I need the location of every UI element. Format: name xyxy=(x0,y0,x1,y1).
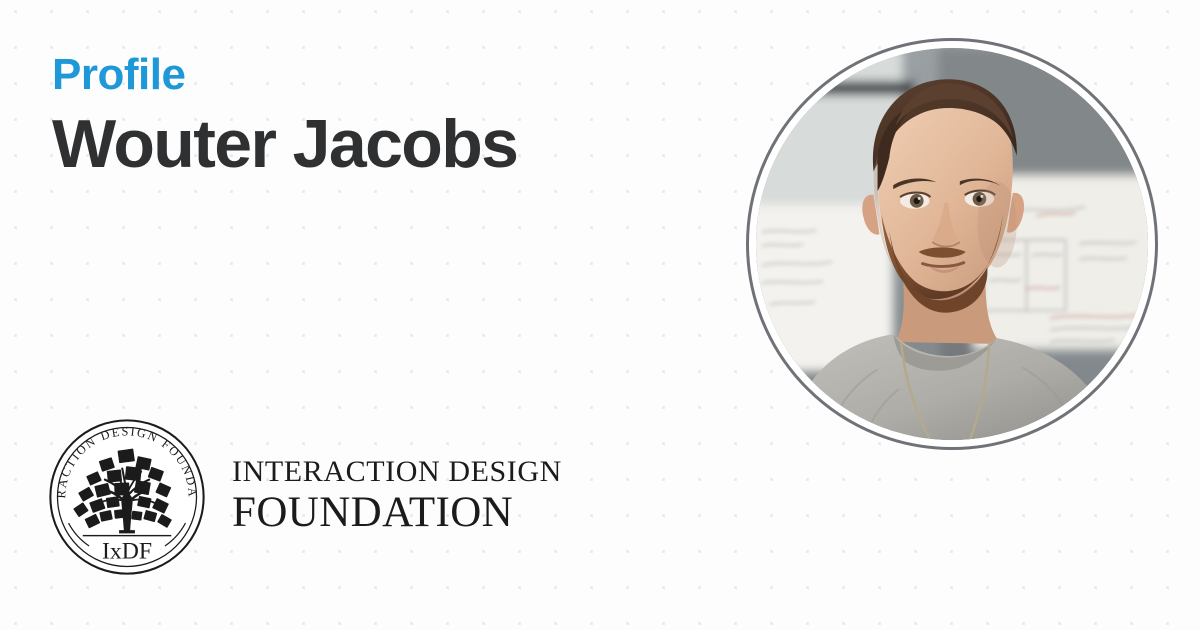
ixdf-logo-lockup[interactable]: INTERACTION DESIGN FOUNDATION xyxy=(48,418,562,576)
page-eyebrow: Profile xyxy=(52,52,712,98)
ixdf-monogram: IxDF xyxy=(102,539,152,565)
wordmark-line-1: INTERACTION DESIGN xyxy=(232,457,562,487)
page-title: Wouter Jacobs xyxy=(52,108,712,180)
ixdf-seal-icon: INTERACTION DESIGN FOUNDATION xyxy=(48,418,206,576)
ixdf-wordmark: INTERACTION DESIGN FOUNDATION xyxy=(232,457,562,538)
avatar-clip xyxy=(756,48,1148,440)
wordmark-line-2: FOUNDATION xyxy=(232,491,562,534)
profile-text-block: Profile Wouter Jacobs xyxy=(52,52,712,180)
profile-photo-image xyxy=(756,48,1148,440)
profile-share-card: Profile Wouter Jacobs INTERACTION DESIGN… xyxy=(0,0,1200,630)
profile-avatar xyxy=(746,38,1158,450)
